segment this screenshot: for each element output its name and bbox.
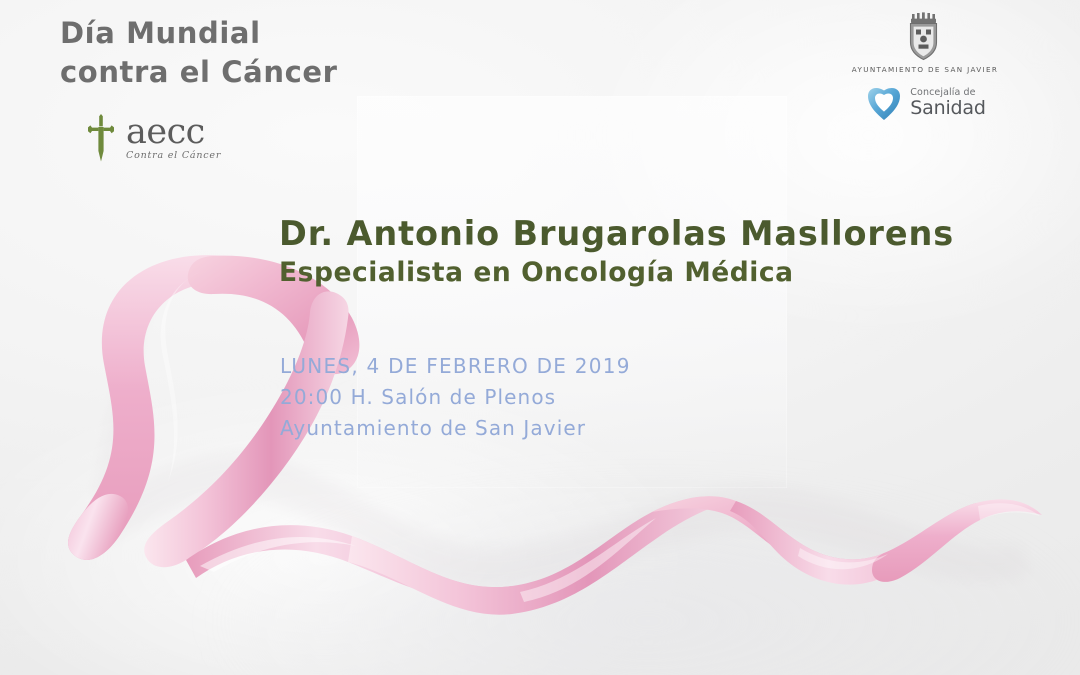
concejalia-sanidad-logo: Concejalía de Sanidad <box>825 83 1025 123</box>
event-time-venue: 20:00 H. Salón de Plenos <box>280 382 800 413</box>
aecc-logo: aecc Contra el Cáncer <box>86 114 221 162</box>
crest-caption: AYUNTAMIENTO DE SAN JAVIER <box>825 65 1025 74</box>
aecc-cross-icon <box>86 114 116 162</box>
event-date: LUNES, 4 DE FEBRERO DE 2019 <box>280 351 800 382</box>
sanidad-label-large: Sanidad <box>910 99 985 118</box>
poster-canvas: Día Mundial contra el Cáncer aecc Contra… <box>0 0 1080 675</box>
aecc-wordmark: aecc Contra el Cáncer <box>126 116 221 160</box>
san-javier-crest-icon <box>825 10 1025 62</box>
poster-title: Día Mundial contra el Cáncer <box>60 14 480 91</box>
speaker-role: Especialista en Oncología Médica <box>279 257 999 289</box>
institutional-logos: AYUNTAMIENTO DE SAN JAVIER Conce <box>825 10 1025 123</box>
aecc-tagline: Contra el Cáncer <box>126 151 221 161</box>
aecc-name: aecc <box>126 116 221 150</box>
event-place: Ayuntamiento de San Javier <box>280 413 800 444</box>
background-shadow-bottom <box>216 486 1080 675</box>
event-details: LUNES, 4 DE FEBRERO DE 2019 20:00 H. Sal… <box>280 351 800 444</box>
heart-shield-icon <box>864 83 904 123</box>
speaker-name: Dr. Antonio Brugarolas Masllorens <box>279 214 999 254</box>
speaker-block: Dr. Antonio Brugarolas Masllorens Especi… <box>279 214 999 289</box>
sanidad-wordmark: Concejalía de Sanidad <box>910 88 985 118</box>
poster-header: Día Mundial contra el Cáncer <box>60 14 480 91</box>
